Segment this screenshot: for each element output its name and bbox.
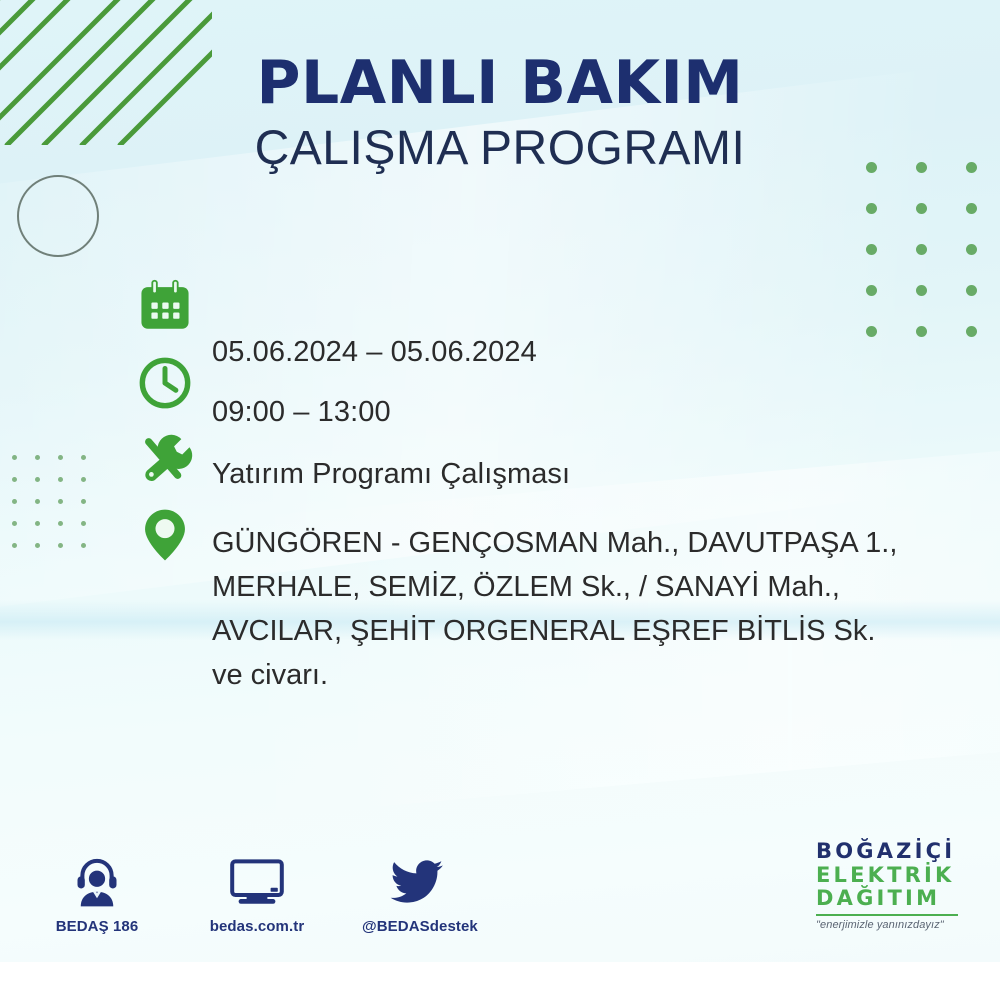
address-text: GÜNGÖREN - GENÇOSMAN Mah., DAVUTPAŞA 1.,… — [212, 521, 912, 697]
clock-icon — [136, 354, 194, 412]
page-title-sub: ÇALIŞMA PROGRAMI — [0, 121, 1000, 176]
work-type-text: Yatırım Programı Çalışması — [212, 458, 952, 491]
logo-divider — [816, 914, 958, 916]
contact-item-website[interactable]: bedas.com.tr — [202, 852, 312, 935]
notice-text-column: 05.06.2024 – 05.06.2024 09:00 – 13:00 Ya… — [212, 336, 952, 697]
calendar-icon — [136, 278, 194, 336]
contact-label-phone: BEDAŞ 186 — [42, 918, 152, 935]
bottom-white-strip — [0, 962, 1000, 1000]
page-title-main: PLANLI BAKIM — [0, 52, 1000, 115]
logo-tagline: "enerjimizle yanınızdayız" — [816, 919, 976, 931]
time-range-text: 09:00 – 13:00 — [212, 396, 952, 429]
bedas-logo: BOĞAZİÇİ ELEKTRİK DAĞITIM "enerjimizle y… — [816, 840, 976, 931]
contact-label-website: bedas.com.tr — [202, 918, 312, 935]
support-agent-icon — [42, 852, 152, 908]
monitor-icon — [202, 852, 312, 908]
contact-item-twitter[interactable]: @BEDASdestek — [362, 852, 472, 935]
planned-maintenance-poster: PLANLI BAKIM ÇALIŞMA PROGRAMI — [0, 0, 1000, 1000]
twitter-bird-icon — [362, 852, 472, 908]
logo-line-dagitim: DAĞITIM — [816, 887, 976, 911]
map-pin-icon — [136, 506, 194, 564]
logo-line-bogazici: BOĞAZİÇİ — [816, 840, 976, 864]
contact-item-phone[interactable]: BEDAŞ 186 — [42, 852, 152, 935]
tools-icon — [136, 430, 194, 488]
date-range-text: 05.06.2024 – 05.06.2024 — [212, 336, 952, 369]
poster-header: PLANLI BAKIM ÇALIŞMA PROGRAMI — [0, 52, 1000, 176]
contact-label-twitter: @BEDASdestek — [362, 918, 472, 935]
logo-line-elektrik: ELEKTRİK — [816, 864, 976, 888]
footer-contacts: BEDAŞ 186 bedas.com.tr @BEDASdestek — [42, 852, 472, 935]
